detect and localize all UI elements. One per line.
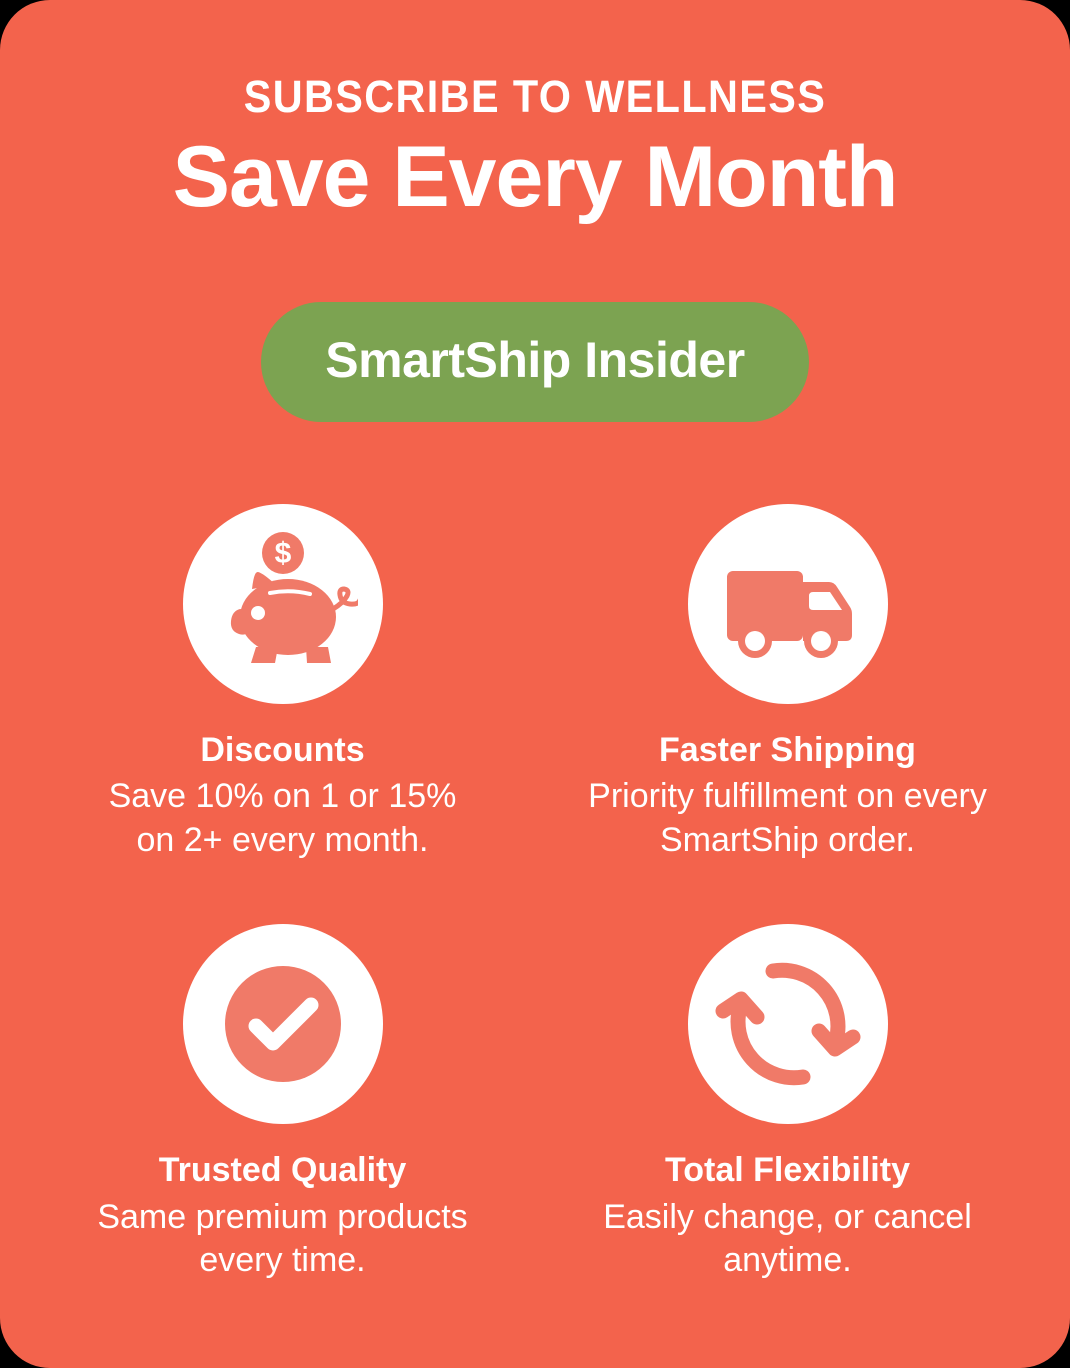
feature-item-trusted-quality: Trusted Quality Same premium products ev… (35, 924, 530, 1282)
delivery-truck-icon (713, 529, 863, 679)
icon-circle: $ (183, 504, 383, 704)
badge-container: SmartShip Insider (0, 302, 1070, 422)
feature-description: Save 10% on 1 or 15% on 2+ every month. (109, 775, 457, 862)
feature-title: Discounts (200, 732, 364, 769)
check-circle-icon (208, 949, 358, 1099)
feature-title: Trusted Quality (159, 1152, 407, 1189)
icon-circle (688, 504, 888, 704)
feature-item-faster-shipping: Faster Shipping Priority fulfillment on … (540, 504, 1035, 862)
feature-item-total-flexibility: Total Flexibility Easily change, or canc… (540, 924, 1035, 1282)
piggy-bank-icon: $ (208, 529, 358, 679)
eyebrow-text: SUBSCRIBE TO WELLNESS (43, 74, 1027, 119)
refresh-cycle-icon (713, 949, 863, 1099)
header: SUBSCRIBE TO WELLNESS Save Every Month (0, 0, 1070, 224)
feature-item-discounts: $ Discounts (35, 504, 530, 862)
smartship-insider-button[interactable]: SmartShip Insider (261, 302, 808, 422)
subscription-promo-card: SUBSCRIBE TO WELLNESS Save Every Month S… (0, 0, 1070, 1368)
feature-description: Priority fulfillment on every SmartShip … (588, 775, 987, 862)
feature-description: Easily change, or cancel anytime. (603, 1196, 972, 1283)
icon-circle (688, 924, 888, 1124)
page-title: Save Every Month (0, 131, 1070, 224)
svg-text:$: $ (274, 537, 291, 570)
feature-description: Same premium products every time. (97, 1196, 467, 1283)
feature-title: Total Flexibility (665, 1152, 910, 1189)
feature-title: Faster Shipping (659, 732, 916, 769)
icon-circle (183, 924, 383, 1124)
feature-grid: $ Discounts (35, 504, 1035, 1283)
